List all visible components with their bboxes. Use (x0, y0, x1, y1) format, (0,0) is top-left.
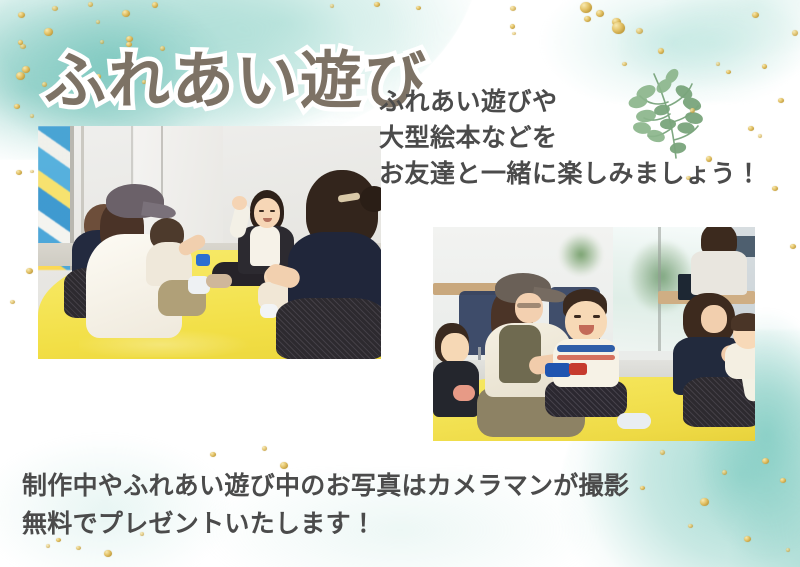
gold-flake (26, 268, 33, 274)
gold-flake (512, 32, 516, 35)
lead-line-2: 大型絵本などを (379, 120, 799, 156)
hair (731, 313, 755, 331)
page-title: ふれあい遊び (44, 50, 428, 112)
gold-flake (612, 18, 621, 26)
gold-flake (20, 44, 26, 49)
face (254, 198, 280, 228)
gold-flake (96, 20, 100, 24)
face (515, 293, 543, 323)
poster-canvas: ふれあい遊び ふれあい遊びや 大型絵本などを お友達と一緒に楽しみましょう！ 制… (0, 0, 800, 567)
gold-flake (636, 28, 643, 34)
gold-flake (104, 550, 112, 557)
gold-flake (10, 300, 15, 304)
gold-flake (14, 104, 20, 109)
foot (206, 274, 232, 288)
eye-left (574, 315, 581, 318)
photo-left (38, 126, 381, 359)
toy-train (545, 363, 571, 377)
toy-block (569, 363, 587, 375)
gold-flake (210, 452, 216, 457)
gold-flake (46, 544, 50, 548)
hair-bun (360, 186, 381, 212)
lead-line-3: お友達と一緒に楽しみましょう！ (379, 156, 799, 192)
gold-flake (18, 40, 23, 45)
gold-flake (580, 2, 592, 13)
window-mullion (658, 227, 661, 351)
eye-left (259, 210, 264, 212)
gold-flake (16, 72, 25, 80)
gold-flake (790, 244, 796, 249)
eye-right (270, 210, 275, 212)
gold-flake (16, 170, 22, 175)
gold-flake (612, 22, 625, 34)
gold-flake (792, 30, 798, 36)
gold-flake (762, 64, 767, 69)
gold-flake (510, 6, 516, 11)
gold-flake (416, 6, 421, 10)
gold-flake (660, 450, 665, 455)
gold-flake (76, 546, 81, 550)
gold-flake (52, 6, 58, 11)
face (441, 333, 469, 363)
footer-line-1: 制作中やふれあい遊び中のお写真はカメラマンが撮影 (22, 467, 762, 505)
pinafore (250, 226, 280, 266)
photo-right-scene (433, 227, 755, 441)
gold-flake (18, 12, 25, 18)
gold-flake (88, 2, 93, 7)
lead-line-1: ふれあい遊びや (379, 84, 799, 120)
gold-flake (658, 48, 664, 54)
gold-flake (596, 10, 604, 17)
eye-right (593, 315, 600, 318)
gold-flake (30, 170, 34, 173)
gold-flake (584, 16, 591, 22)
footer-paragraph: 制作中やふれあい遊び中のお写真はカメラマンが撮影 無料でプレゼントいたします！ (22, 467, 762, 542)
gold-flake (152, 2, 158, 8)
fist (232, 196, 247, 210)
gold-flake (780, 478, 786, 483)
gold-flake (22, 66, 30, 73)
shirt-stripe-secondary (557, 355, 615, 360)
lead-paragraph: ふれあい遊びや 大型絵本などを お友達と一緒に楽しみましょう！ (379, 84, 799, 192)
hand (453, 385, 475, 401)
photo-right (433, 227, 755, 441)
gold-flake (44, 28, 53, 36)
indoor-plant (555, 231, 607, 278)
glasses (517, 303, 541, 308)
skirt (276, 298, 381, 359)
shirt-stripe (557, 345, 615, 352)
gold-flake (786, 548, 790, 552)
footer-line-2: 無料でプレゼントいたします！ (22, 505, 762, 543)
gold-flake (510, 24, 515, 29)
vest (499, 325, 541, 383)
gold-flake (374, 2, 380, 7)
gold-flake (126, 36, 133, 42)
foot (617, 413, 651, 429)
photo-left-scene (38, 126, 381, 359)
gold-flake (30, 114, 34, 118)
face (701, 305, 727, 333)
torso (691, 251, 747, 295)
gold-flake (122, 10, 130, 17)
gold-flake (262, 446, 267, 451)
face (565, 301, 607, 343)
gold-flake (752, 12, 759, 18)
blue-toy (196, 254, 210, 266)
gold-flake (762, 458, 769, 464)
gold-flake (330, 4, 334, 8)
